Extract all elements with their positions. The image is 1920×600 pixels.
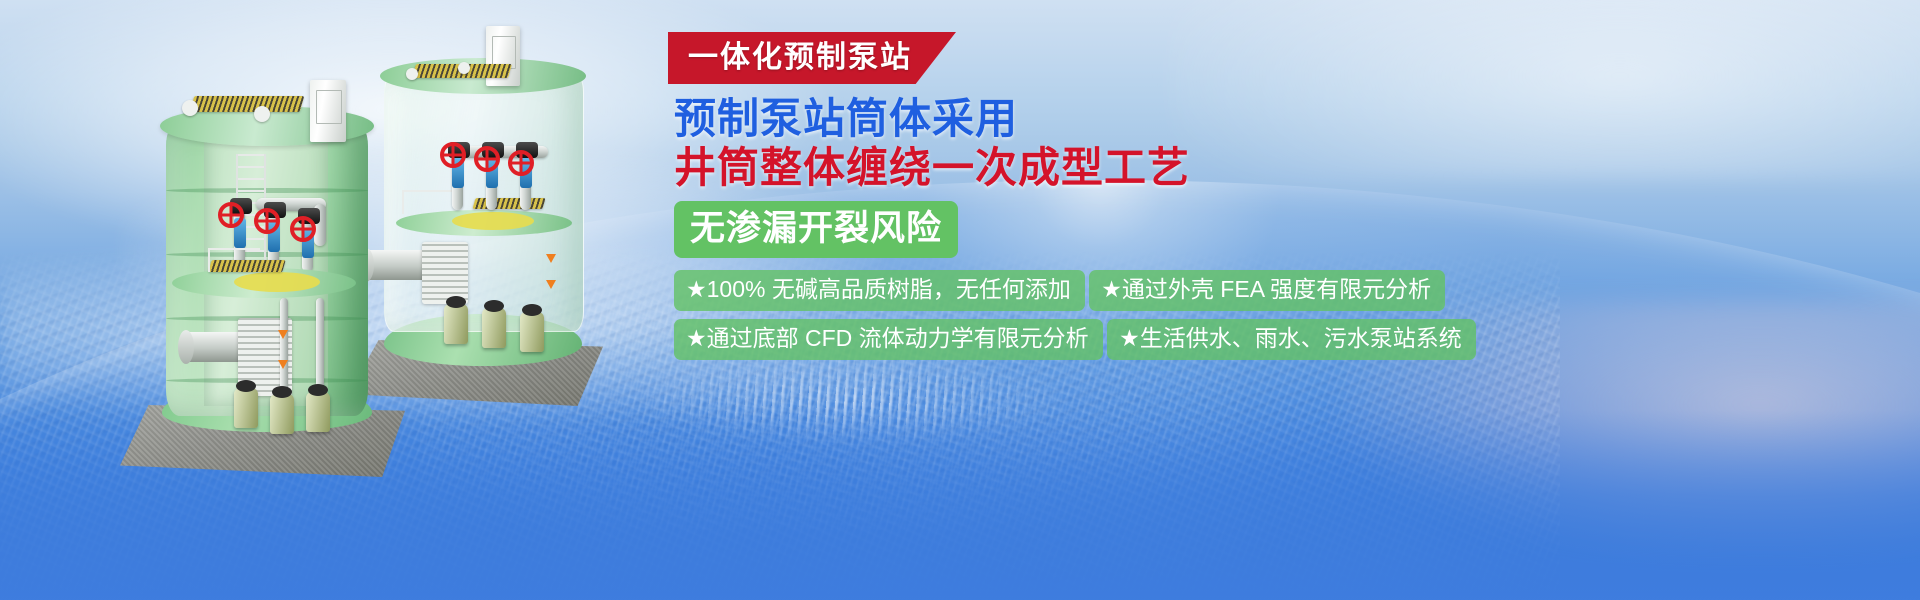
shell-ring-2 [166,252,368,257]
flow-arrow-left-1 [278,330,288,339]
submersible-pump-right-3 [520,312,544,352]
pump-station-unit-left [158,92,376,432]
flow-arrow-left-2 [278,360,288,369]
control-cabinet-left [310,80,346,142]
screen-basket-right [422,242,468,304]
lifting-hook-left-1 [182,100,198,116]
red-handwheel-valve-right-3 [508,150,534,176]
shell-ring-1 [166,188,368,193]
submersible-pump-right-2 [482,308,506,348]
feature-badge: 无渗漏开裂风险 [674,201,958,258]
lifting-hook-right-2 [458,62,470,74]
flow-arrow-right-1 [546,254,556,263]
red-handwheel-valve-right-2 [474,146,500,172]
product-category-tag: 一体化预制泵站 [668,32,956,84]
product-illustration [120,20,680,480]
pump-station-unit-right [378,42,588,372]
submersible-pump-left-2 [270,394,294,434]
promo-banner: 一体化预制泵站 预制泵站筒体采用 井筒整体缠绕一次成型工艺 无渗漏开裂风险 ★1… [0,0,1920,600]
submersible-pump-right-1 [444,304,468,344]
deck-yellow-pad-left [234,272,320,292]
submersible-pump-left-3 [306,392,330,432]
deck-railing-right [402,190,456,214]
feature-list: ★100% 无碱高品质树脂，无任何添加 ★通过外壳 FEA 强度有限元分析 ★通… [674,270,1798,368]
top-grating-left [190,96,305,112]
marketing-copy-block: 一体化预制泵站 预制泵站筒体采用 井筒整体缠绕一次成型工艺 无渗漏开裂风险 ★1… [668,32,1798,368]
feature-list-item: ★通过外壳 FEA 强度有限元分析 [1089,270,1445,311]
feature-list-item: ★100% 无碱高品质树脂，无任何添加 [674,270,1085,311]
deck-grating-right [472,198,545,209]
lifting-hook-right [406,68,418,80]
submersible-pump-left-1 [234,388,258,428]
red-handwheel-valve-left-3 [290,216,316,242]
deck-railing-left [208,248,260,272]
feature-list-item: ★生活供水、雨水、污水泵站系统 [1107,319,1476,360]
deck-yellow-pad-right [452,212,534,230]
lifting-hook-left-2 [254,106,270,122]
headline-primary: 预制泵站筒体采用 [674,96,1798,141]
headline-secondary: 井筒整体缠绕一次成型工艺 [674,145,1798,190]
feature-list-item: ★通过底部 CFD 流体动力学有限元分析 [674,319,1103,360]
red-handwheel-valve-left-2 [254,208,280,234]
flow-arrow-right-2 [546,280,556,289]
red-handwheel-valve-right-1 [440,142,466,168]
red-handwheel-valve-left-1 [218,202,244,228]
